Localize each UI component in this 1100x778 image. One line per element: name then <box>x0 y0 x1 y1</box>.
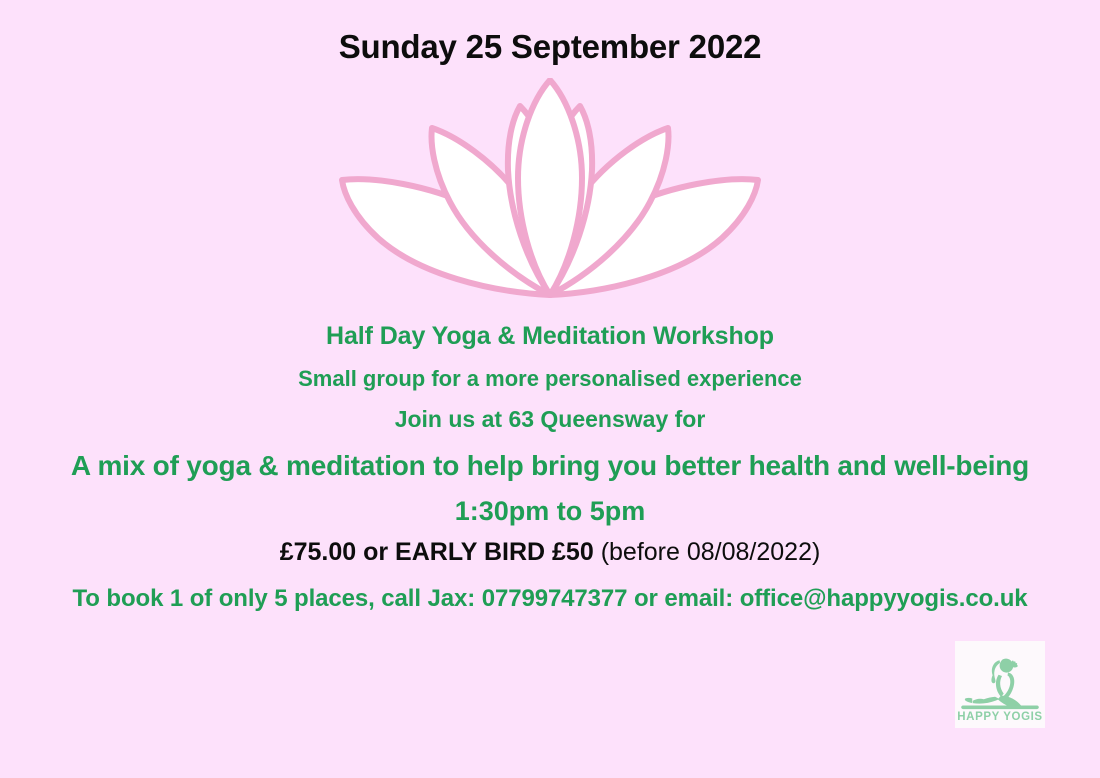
time-line: 1:30pm to 5pm <box>0 496 1100 527</box>
price-line: £75.00 or EARLY BIRD £50 (before 08/08/2… <box>0 538 1100 567</box>
price-amount: £75.00 or EARLY BIRD £50 <box>280 538 594 566</box>
location-suffix: for <box>668 406 705 432</box>
logo-brand-text: HAPPY YOGIS <box>957 711 1042 723</box>
price-deadline-note: (before 08/08/2022) <box>594 538 821 566</box>
poster-canvas: Sunday 25 September 2022 Half Day Yoga & <box>0 0 1100 778</box>
small-group-subline: Small group for a more personalised expe… <box>0 366 1100 392</box>
booking-contact-line: To book 1 of only 5 places, call Jax: 07… <box>0 585 1100 613</box>
page-title: Sunday 25 September 2022 <box>0 28 1100 66</box>
description-line: A mix of yoga & meditation to help bring… <box>0 450 1100 482</box>
lotus-flower-icon <box>330 78 770 308</box>
happy-yogis-logo: HAPPY YOGIS <box>955 641 1045 728</box>
location-line: Join us at 63 Queensway for <box>0 406 1100 433</box>
workshop-headline: Half Day Yoga & Meditation Workshop <box>0 322 1100 351</box>
location-prefix: Join us at <box>395 406 509 432</box>
location-address: 63 Queensway <box>508 406 668 432</box>
